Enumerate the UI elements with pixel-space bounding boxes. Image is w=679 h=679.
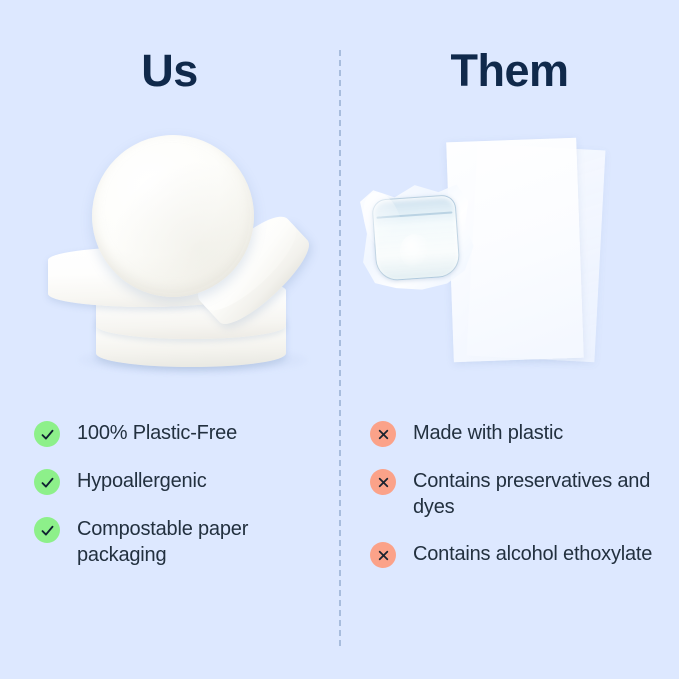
feature-label: Hypoallergenic bbox=[77, 468, 207, 494]
list-item: Contains preservatives and dyes bbox=[370, 468, 670, 520]
plastic-sachet bbox=[354, 179, 477, 295]
cross-icon bbox=[370, 542, 396, 568]
list-item: 100% Plastic-Free bbox=[34, 420, 332, 447]
column-heading-us: Us bbox=[0, 48, 339, 93]
comparison-infographic: Us 100% Plastic-Free Hypoallergenic bbox=[0, 0, 679, 679]
feature-label: Contains preservatives and dyes bbox=[413, 468, 668, 520]
feature-list-them: Made with plastic Contains preservatives… bbox=[370, 420, 670, 568]
list-item: Made with plastic bbox=[370, 420, 670, 447]
cross-icon bbox=[370, 469, 396, 495]
column-them: Them Made with plastic Contains bbox=[340, 0, 679, 679]
feature-list-us: 100% Plastic-Free Hypoallergenic Compost… bbox=[34, 420, 332, 568]
feature-label: Compostable paper packaging bbox=[77, 516, 332, 568]
list-item: Compostable paper packaging bbox=[34, 516, 332, 568]
feature-label: Contains alcohol ethoxylate bbox=[413, 541, 652, 567]
product-image-plastic-pod bbox=[340, 125, 679, 397]
check-icon bbox=[34, 517, 60, 543]
feature-label: 100% Plastic-Free bbox=[77, 420, 237, 446]
column-us: Us 100% Plastic-Free Hypoallergenic bbox=[0, 0, 339, 679]
cross-icon bbox=[370, 421, 396, 447]
check-icon bbox=[34, 469, 60, 495]
product-image-tablets bbox=[0, 125, 339, 397]
feature-label: Made with plastic bbox=[413, 420, 563, 446]
check-icon bbox=[34, 421, 60, 447]
list-item: Contains alcohol ethoxylate bbox=[370, 541, 670, 568]
column-heading-them: Them bbox=[340, 48, 679, 93]
list-item: Hypoallergenic bbox=[34, 468, 332, 495]
